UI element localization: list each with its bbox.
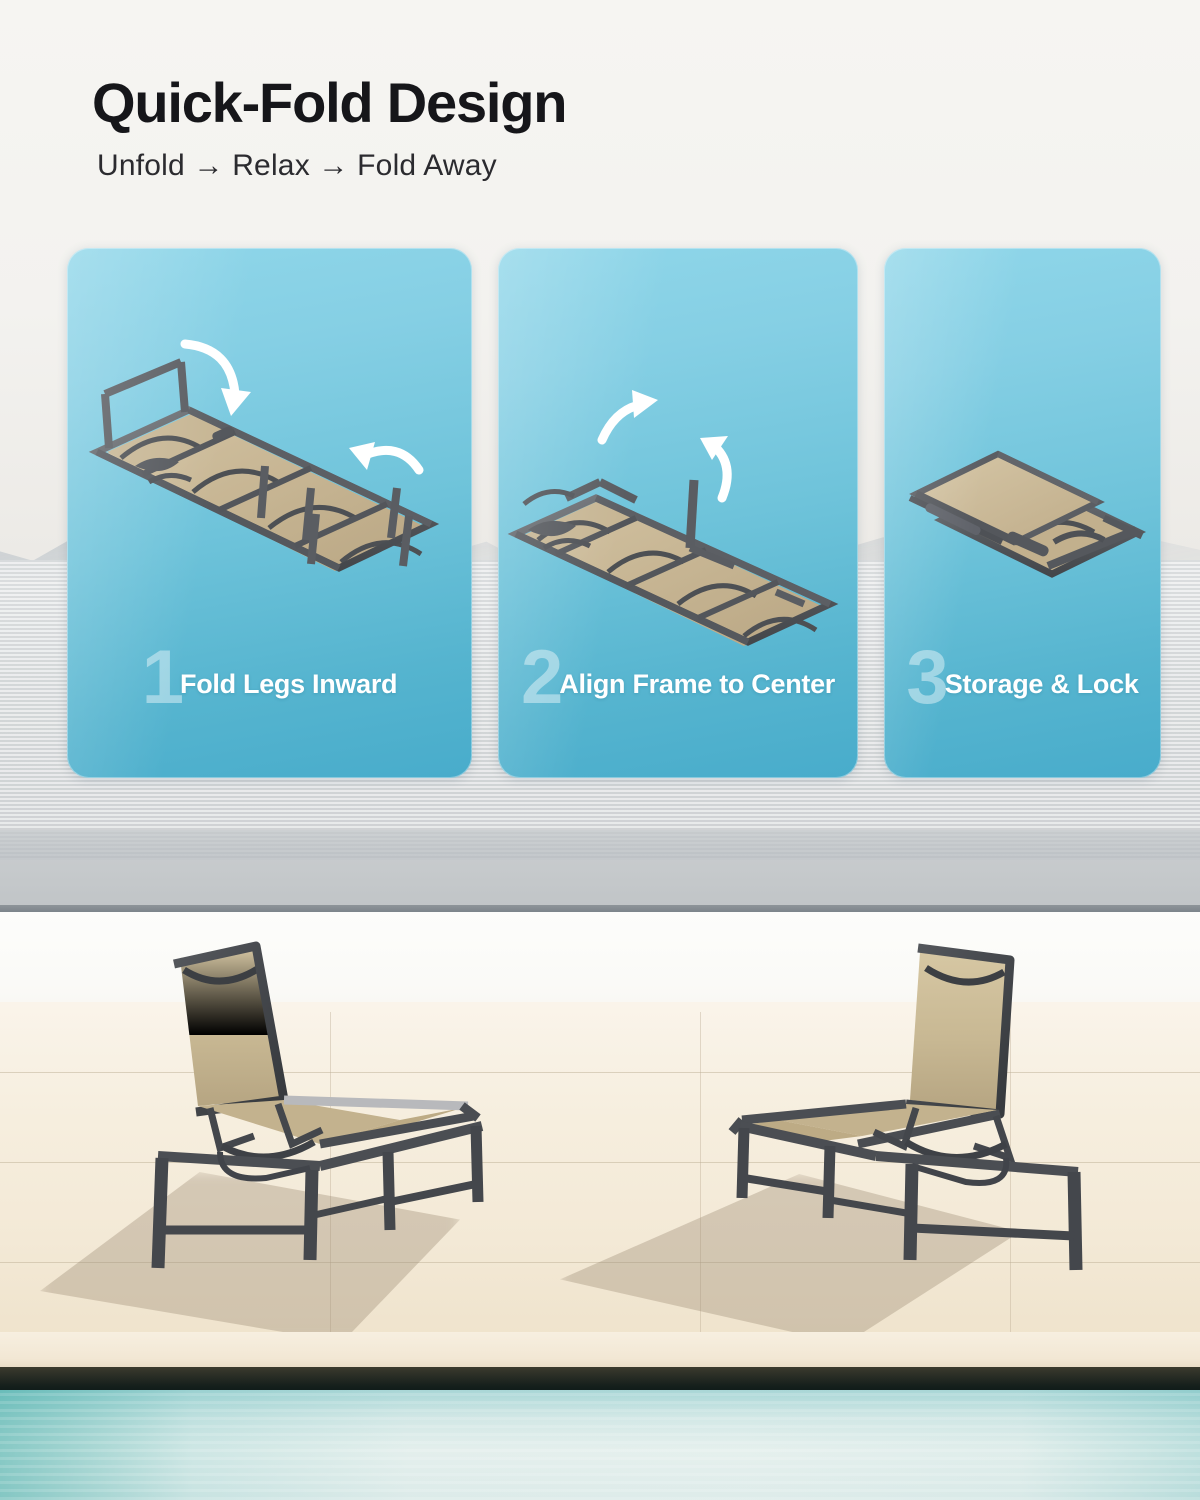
page-title: Quick-Fold Design [92,74,992,133]
pool-coping-edge [0,1332,1200,1370]
step-card-list: 1 Fold Legs Inward [67,248,1135,778]
product-infographic-page: Quick-Fold Design Unfold → Relax → Fold … [0,0,1200,1500]
chaise-lounger-right [680,930,1150,1310]
lifestyle-photo-section [0,912,1200,1500]
fold-arrow-left-icon [185,344,235,394]
page-subtitle: Unfold → Relax → Fold Away [97,149,992,183]
chaise-lounger-left [70,930,540,1310]
heading-block: Quick-Fold Design Unfold → Relax → Fold … [92,74,992,183]
section-divider [0,905,1200,912]
step-card-1[interactable]: 1 Fold Legs Inward [67,248,472,778]
step-3-illustration [884,248,1161,778]
fold-arrow-left-head-icon [221,388,251,416]
align-arrow-left-head-icon [632,390,658,418]
step-2-illustration [498,248,858,778]
pool-water-ripple [0,1390,1200,1500]
quick-fold-section: Quick-Fold Design Unfold → Relax → Fold … [0,0,1200,912]
step-card-2[interactable]: 2 Align Frame to Center [498,248,858,778]
step-card-3[interactable]: 3 Storage & Lock [884,248,1161,778]
step-1-illustration [67,248,472,778]
backdrop-deck [0,830,1200,912]
